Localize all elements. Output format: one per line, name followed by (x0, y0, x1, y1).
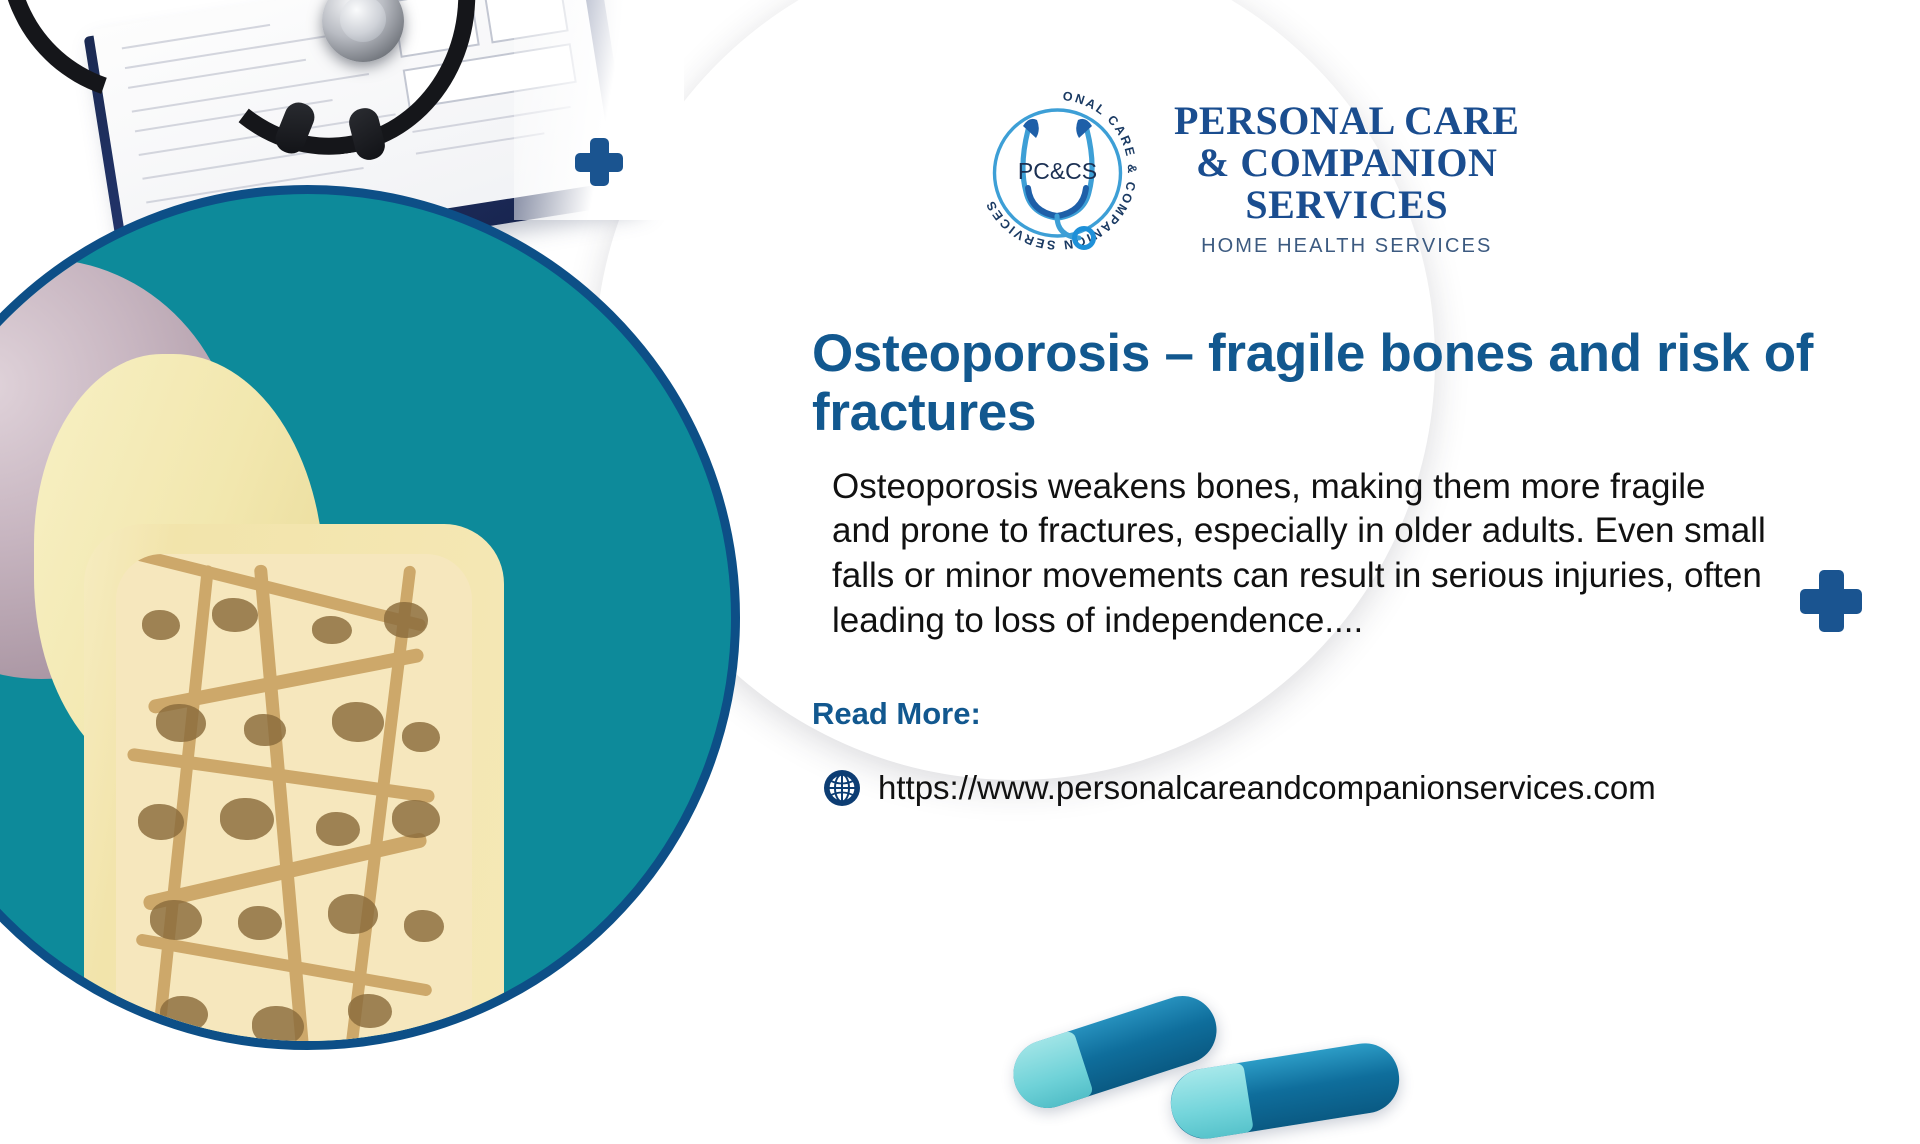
article-body: Osteoporosis weakens bones, making them … (832, 465, 1772, 644)
stethoscope-circle-logo-icon: PERSONAL CARE & COMPANION SERVICES PC&CS (965, 78, 1150, 263)
article-copy: Osteoporosis – fragile bones and risk of… (812, 325, 1832, 808)
read-more-label: Read More: (812, 696, 1832, 732)
website-url[interactable]: https://www.personalcareandcompanionserv… (878, 769, 1656, 807)
wordmark-line-3: SERVICES (1174, 184, 1519, 226)
website-link[interactable]: https://www.personalcareandcompanionserv… (822, 768, 1832, 808)
brand-wordmark: PERSONAL CARE & COMPANION SERVICES HOME … (1174, 78, 1519, 258)
photo-fade (514, 0, 684, 220)
wordmark-line-2: & COMPANION (1174, 142, 1519, 184)
brand-tagline: HOME HEALTH SERVICES (1174, 235, 1519, 258)
svg-text:PC&CS: PC&CS (1018, 158, 1097, 184)
trabecular-bone (116, 554, 472, 1050)
page-title: Osteoporosis – fragile bones and risk of… (812, 325, 1832, 443)
globe-icon (822, 768, 862, 808)
medical-cross-icon (575, 138, 623, 186)
wordmark-line-1: PERSONAL CARE (1174, 100, 1519, 142)
brand-logo[interactable]: PERSONAL CARE & COMPANION SERVICES PC&CS… (965, 78, 1519, 263)
